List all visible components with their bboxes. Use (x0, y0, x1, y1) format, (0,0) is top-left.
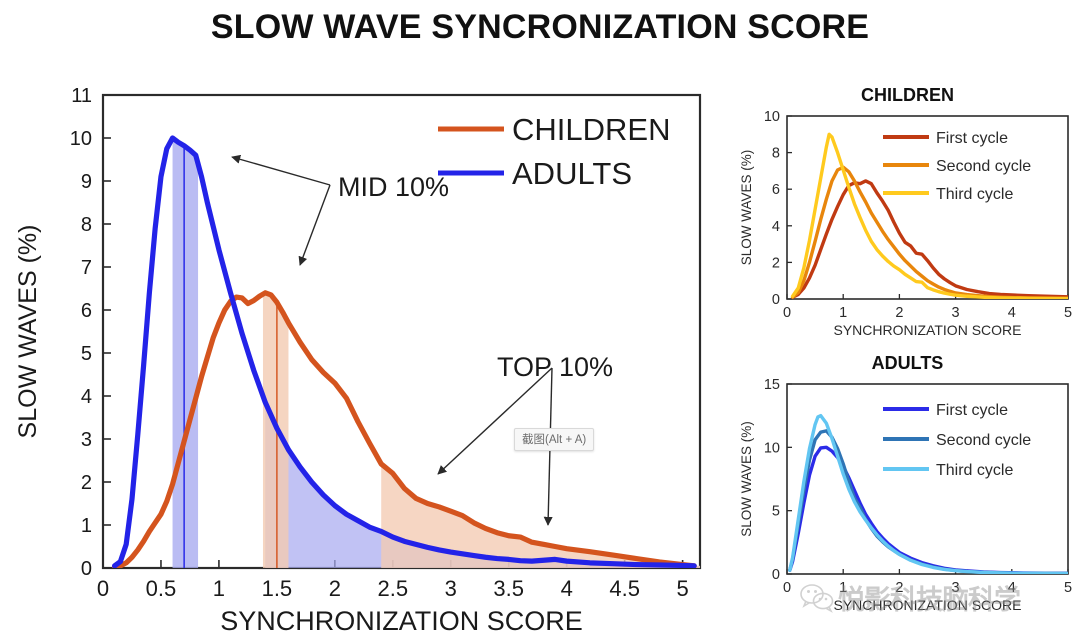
x-tick-label: 2.5 (378, 576, 409, 601)
adults-x-tick-label: 2 (895, 580, 903, 596)
adults-legend-label-2: Third cycle (936, 462, 1013, 479)
children-panel-title: CHILDREN (735, 84, 1080, 106)
annotation-top-10: TOP 10% (497, 352, 613, 383)
y-tick-label: 3 (81, 429, 92, 451)
y-tick-label: 0 (81, 558, 92, 580)
x-tick-label: 5 (676, 576, 688, 601)
children-y-tick-label: 10 (764, 109, 780, 125)
adults-x-tick-label: 1 (839, 580, 847, 596)
children-x-tick-label: 5 (1064, 305, 1072, 321)
children-y-tick-label: 2 (772, 255, 780, 271)
x-tick-label: 3.5 (493, 576, 524, 601)
children-y-tick-label: 8 (772, 146, 780, 162)
legend-label-adults: ADULTS (512, 156, 632, 191)
annotation-mid-10: MID 10% (338, 172, 449, 203)
children-x-tick-label: 2 (895, 305, 903, 321)
adults-legend-label-1: Second cycle (936, 432, 1031, 449)
x-axis-title: SYNCHRONIZATION SCORE (220, 606, 583, 636)
main-chart-svg: 0123456789101100.511.522.533.544.55SYNCH… (0, 72, 730, 640)
adults-y-tick-label: 10 (764, 440, 780, 456)
x-tick-label: 3 (445, 576, 457, 601)
y-tick-label: 7 (81, 257, 92, 279)
x-tick-label: 4 (561, 576, 573, 601)
y-tick-label: 4 (81, 386, 92, 408)
y-tick-label: 10 (70, 128, 92, 150)
x-tick-label: 1.5 (262, 576, 293, 601)
y-tick-label: 5 (81, 343, 92, 365)
x-tick-label: 0.5 (146, 576, 177, 601)
adults-panel: ADULTS 051015012345SYNCHRONIZATION SCORE… (735, 352, 1080, 622)
children-x-tick-label: 0 (783, 305, 791, 321)
adults-y-tick-label: 0 (772, 567, 780, 583)
adults-x-axis-title: SYNCHRONIZATION SCORE (834, 597, 1022, 613)
legend-label-children: CHILDREN (512, 112, 670, 147)
adults-x-tick-label: 5 (1064, 580, 1072, 596)
children-y-tick-label: 0 (772, 292, 780, 308)
adults-y-tick-label: 15 (764, 377, 780, 393)
children-y-tick-label: 4 (772, 219, 780, 235)
y-tick-label: 6 (81, 300, 92, 322)
adults-x-tick-label: 4 (1008, 580, 1016, 596)
children-panel: CHILDREN 0246810012345SYNCHRONIZATION SC… (735, 84, 1080, 349)
y-axis-title: SLOW WAVES (%) (14, 225, 42, 439)
adults-y-tick-label: 5 (772, 504, 780, 520)
adults-plot-frame (787, 384, 1068, 574)
x-tick-label: 1 (213, 576, 225, 601)
children-x-axis-title: SYNCHRONIZATION SCORE (834, 322, 1022, 338)
y-tick-label: 1 (81, 515, 92, 537)
adults-chart-wrap: 051015012345SYNCHRONIZATION SCORESLOW WA… (735, 374, 1080, 619)
figure-root: SLOW WAVE SYNCRONIZATION SCORE 012345678… (0, 0, 1080, 640)
children-y-axis-title: SLOW WAVES (%) (739, 150, 754, 266)
children-x-tick-label: 4 (1008, 305, 1016, 321)
children-y-tick-label: 6 (772, 182, 780, 198)
children-chart-svg: 0246810012345SYNCHRONIZATION SCORESLOW W… (735, 106, 1080, 346)
adults-legend-label-0: First cycle (936, 402, 1008, 419)
children-plot-frame (787, 116, 1068, 299)
y-tick-label: 11 (71, 85, 92, 107)
adults-x-tick-label: 0 (783, 580, 791, 596)
page-title: SLOW WAVE SYNCRONIZATION SCORE (0, 8, 1080, 47)
capture-tooltip: 截图(Alt + A) (514, 428, 594, 451)
y-tick-label: 8 (81, 214, 92, 236)
x-tick-label: 0 (97, 576, 109, 601)
children-x-tick-label: 1 (839, 305, 847, 321)
children-chart-wrap: 0246810012345SYNCHRONIZATION SCORESLOW W… (735, 106, 1080, 346)
x-tick-label: 4.5 (609, 576, 640, 601)
children-x-tick-label: 3 (952, 305, 960, 321)
adults-x-tick-label: 3 (952, 580, 960, 596)
y-tick-label: 2 (81, 472, 92, 494)
main-chart-panel: 0123456789101100.511.522.533.544.55SYNCH… (0, 72, 730, 640)
x-tick-label: 2 (329, 576, 341, 601)
y-tick-label: 9 (81, 171, 92, 193)
adults-mid-10-band (173, 138, 199, 568)
adults-y-axis-title: SLOW WAVES (%) (739, 421, 754, 537)
children-legend-label-1: Second cycle (936, 158, 1031, 175)
adults-panel-title: ADULTS (735, 352, 1080, 374)
children-legend-label-0: First cycle (936, 130, 1008, 147)
children-legend-label-2: Third cycle (936, 186, 1013, 203)
adults-chart-svg: 051015012345SYNCHRONIZATION SCORESLOW WA… (735, 374, 1080, 619)
